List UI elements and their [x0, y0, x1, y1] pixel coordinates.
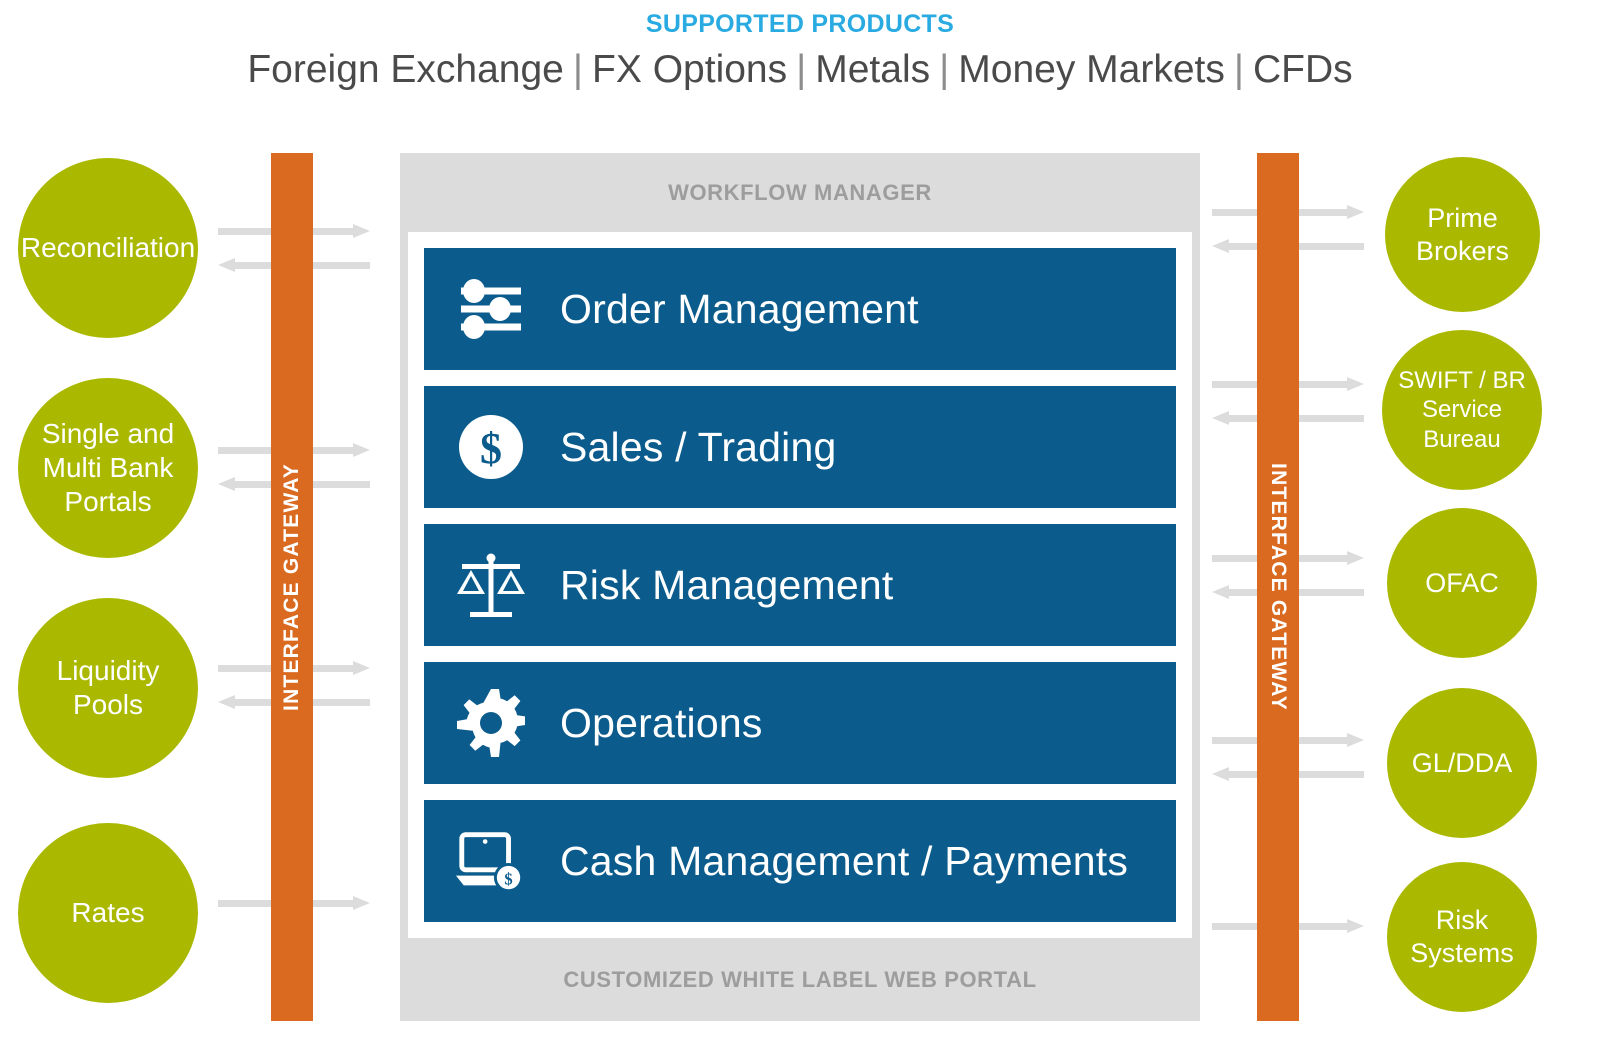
separator-4: |	[1225, 48, 1253, 91]
module-sales-trading-label: Sales / Trading	[560, 424, 837, 471]
module-order-management[interactable]: Order Management	[424, 248, 1176, 370]
module-cash-management-payments-label: Cash Management / Payments	[560, 838, 1128, 885]
page-title: SUPPORTED PRODUCTS	[0, 10, 1600, 39]
node-rates[interactable]: Rates	[18, 823, 198, 1003]
module-risk-management[interactable]: Risk Management	[424, 524, 1176, 646]
node-rates-label: Rates	[71, 896, 144, 930]
platform-panel: WORKFLOW MANAGER Order Management	[400, 153, 1200, 1021]
node-reconciliation-label: Reconciliation	[21, 231, 195, 265]
node-gl-dda[interactable]: GL/DDA	[1387, 688, 1537, 838]
balance-scale-icon	[454, 548, 528, 622]
supported-products-list: Foreign Exchange|FX Options|Metals|Money…	[0, 48, 1600, 92]
separator-3: |	[930, 48, 958, 91]
module-list: Order Management $ Sales / Trading	[408, 232, 1192, 938]
module-order-management-label: Order Management	[560, 286, 919, 333]
interface-gateway-right-label: INTERFACE GATEWAY	[1266, 463, 1290, 711]
node-prime-brokers[interactable]: Prime Brokers	[1385, 157, 1540, 312]
module-cash-management-payments[interactable]: $ Cash Management / Payments	[424, 800, 1176, 922]
laptop-dollar-icon: $	[454, 824, 528, 898]
module-operations-label: Operations	[560, 700, 763, 747]
node-swift-br-service-bureau[interactable]: SWIFT / BR Service Bureau	[1382, 330, 1542, 490]
svg-text:$: $	[480, 424, 502, 473]
node-liquidity-pools[interactable]: Liquidity Pools	[18, 598, 198, 778]
interface-gateway-left[interactable]: INTERFACE GATEWAY	[271, 153, 313, 1021]
node-ofac-label: OFAC	[1425, 567, 1499, 600]
product-fx-options: FX Options	[592, 48, 787, 91]
workflow-manager-header: WORKFLOW MANAGER	[400, 153, 1200, 232]
dollar-circle-icon: $	[454, 410, 528, 484]
node-risk-systems[interactable]: Risk Systems	[1387, 862, 1537, 1012]
separator-1: |	[564, 48, 592, 91]
interface-gateway-left-label: INTERFACE GATEWAY	[280, 463, 304, 711]
separator-2: |	[787, 48, 815, 91]
product-money-markets: Money Markets	[958, 48, 1225, 91]
svg-text:$: $	[504, 869, 512, 888]
node-prime-brokers-label: Prime Brokers	[1395, 202, 1530, 268]
node-single-multi-bank-portals[interactable]: Single and Multi Bank Portals	[18, 378, 198, 558]
module-operations[interactable]: Operations	[424, 662, 1176, 784]
product-foreign-exchange: Foreign Exchange	[247, 48, 564, 91]
node-ofac[interactable]: OFAC	[1387, 508, 1537, 658]
white-label-portal-label: CUSTOMIZED WHITE LABEL WEB PORTAL	[563, 967, 1036, 993]
product-cfds: CFDs	[1253, 48, 1353, 91]
module-sales-trading[interactable]: $ Sales / Trading	[424, 386, 1176, 508]
diagram-canvas: SUPPORTED PRODUCTS Foreign Exchange|FX O…	[0, 0, 1600, 1046]
node-swift-br-service-bureau-label: SWIFT / BR Service Bureau	[1392, 366, 1532, 454]
node-single-multi-bank-portals-label: Single and Multi Bank Portals	[28, 417, 188, 519]
interface-gateway-right[interactable]: INTERFACE GATEWAY	[1257, 153, 1299, 1021]
node-reconciliation[interactable]: Reconciliation	[18, 158, 198, 338]
gear-icon	[454, 686, 528, 760]
module-risk-management-label: Risk Management	[560, 562, 893, 609]
white-label-portal-footer: CUSTOMIZED WHITE LABEL WEB PORTAL	[400, 938, 1200, 1021]
workflow-manager-label: WORKFLOW MANAGER	[668, 180, 932, 206]
node-risk-systems-label: Risk Systems	[1397, 904, 1527, 970]
sliders-icon	[454, 272, 528, 346]
node-gl-dda-label: GL/DDA	[1412, 747, 1513, 780]
product-metals: Metals	[815, 48, 930, 91]
node-liquidity-pools-label: Liquidity Pools	[28, 654, 188, 722]
